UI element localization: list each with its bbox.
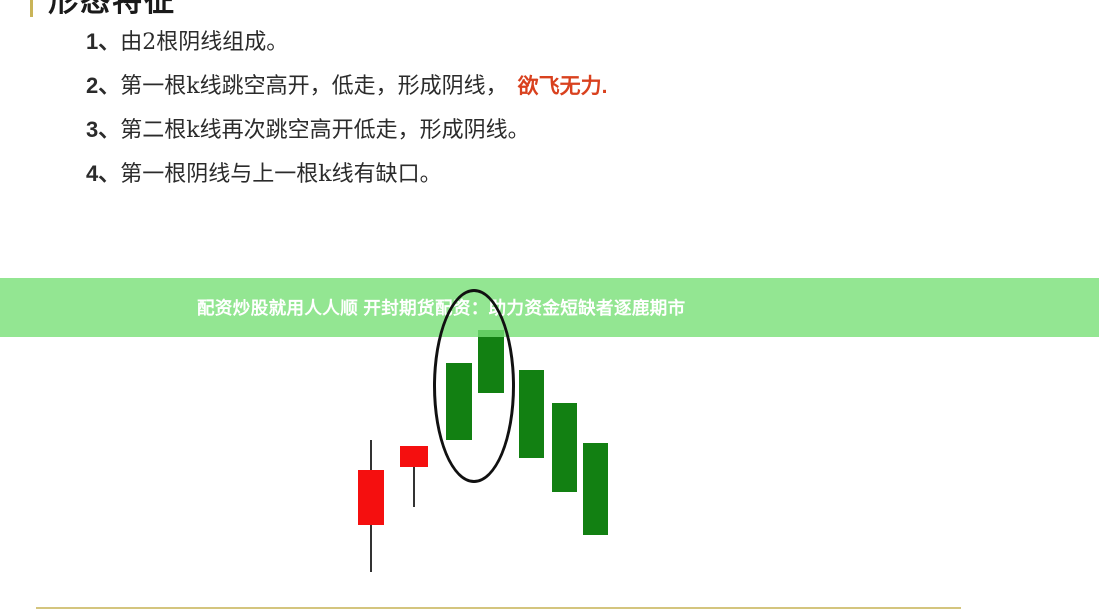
promo-banner-text: 配资炒股就用人人顺 开封期货配资：助力资金短缺者逐鹿期市 [197, 295, 686, 320]
candlestick-body [519, 370, 544, 458]
candlestick-1 [400, 446, 428, 507]
promo-banner[interactable]: 配资炒股就用人人顺 开封期货配资：助力资金短缺者逐鹿期市 [0, 278, 1099, 337]
candlestick-body [358, 470, 384, 525]
candlestick-6 [583, 443, 608, 535]
candlestick-body [552, 403, 577, 492]
candlestick-5 [552, 403, 577, 492]
candlestick-body [400, 446, 428, 467]
candlestick-0 [358, 440, 384, 572]
candlestick-body [583, 443, 608, 535]
slide-page: 形态特征 1、由2根阴线组成。 2、第一根k线跳空高开，低走，形成阴线，欲飞无力… [0, 0, 1099, 614]
ellipse-annotation-icon [433, 289, 515, 483]
candlestick-4 [519, 370, 544, 458]
